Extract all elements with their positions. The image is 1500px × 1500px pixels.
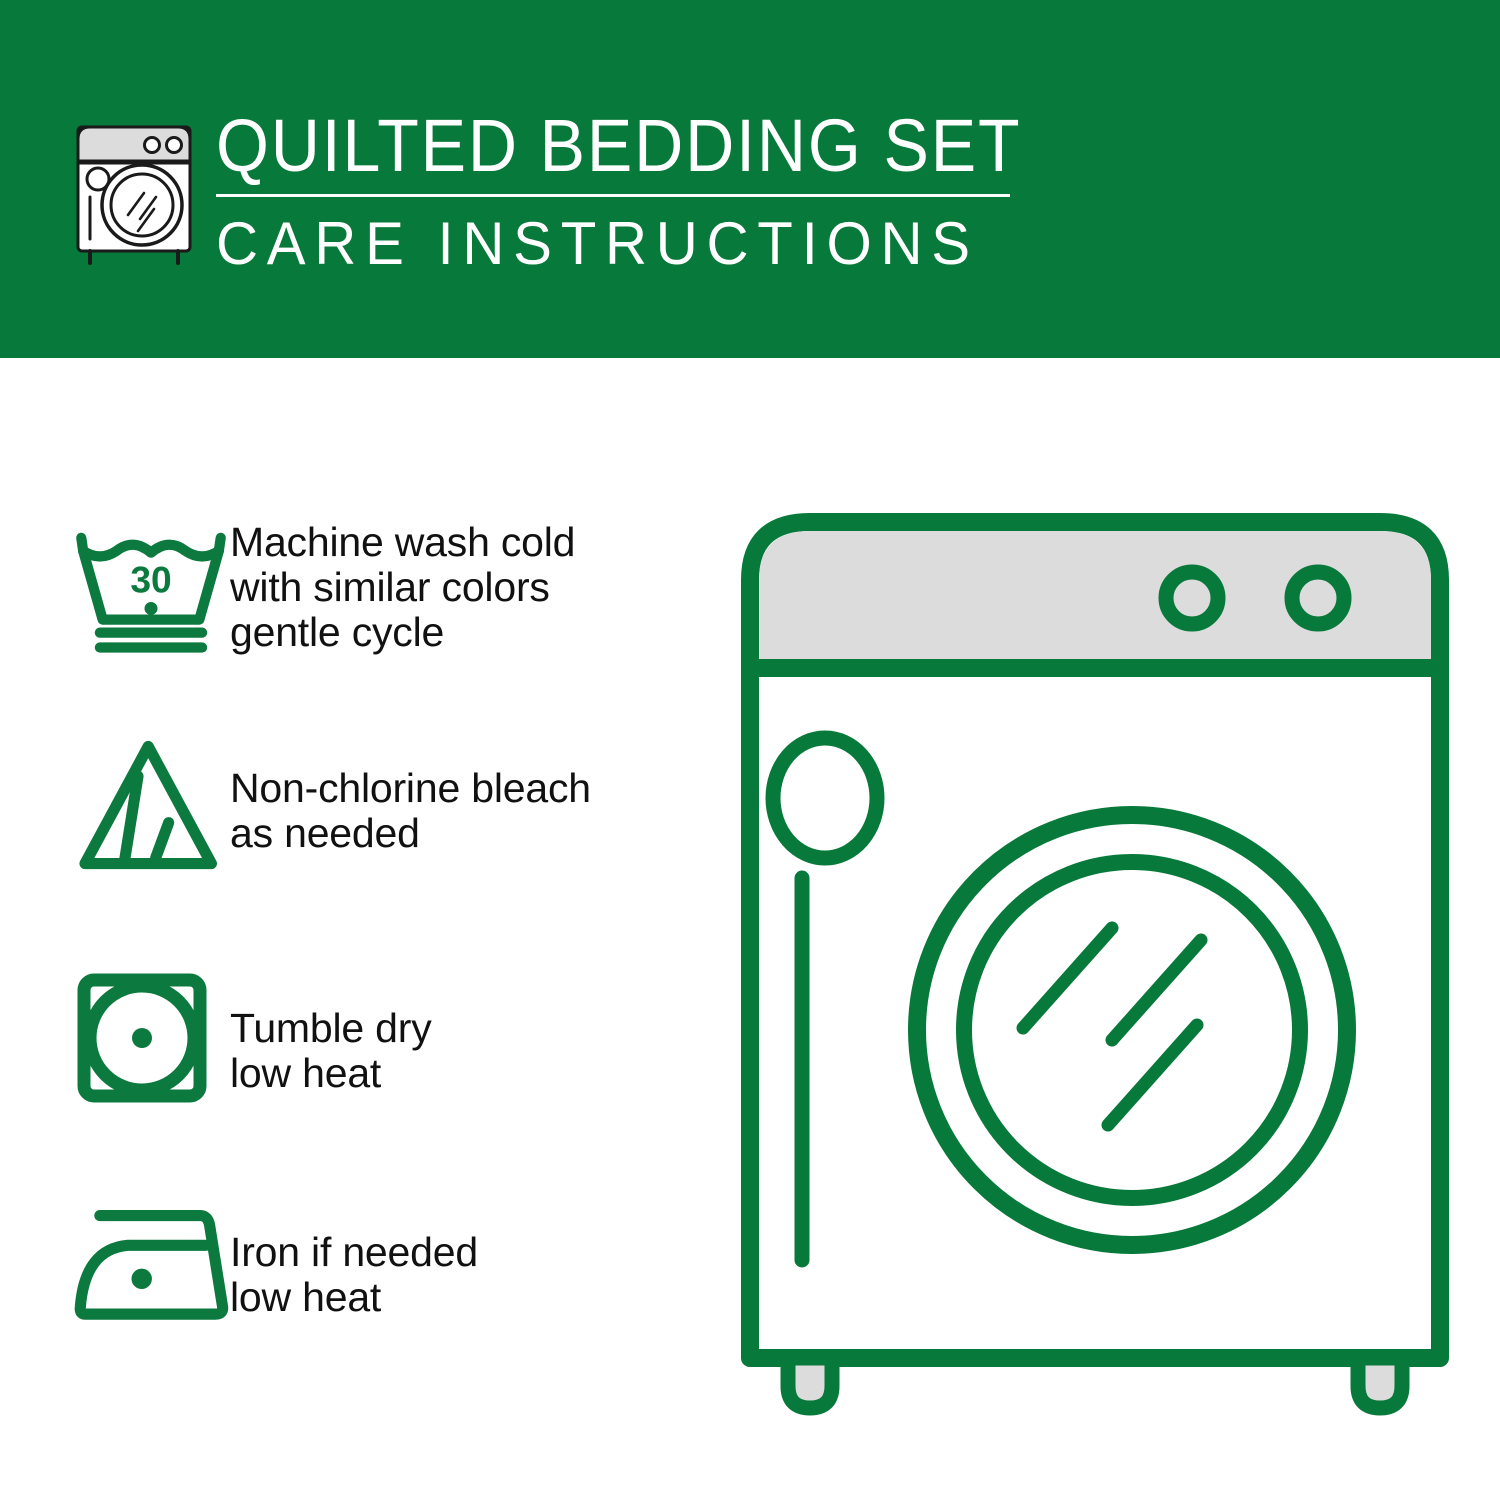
care-text-line: low heat [230, 1275, 478, 1320]
page-subtitle: CARE INSTRUCTIONS [216, 211, 992, 277]
care-row-wash: 30 Machine wash cold with similar colors… [0, 518, 730, 658]
care-row-iron: Iron if needed low heat [0, 1198, 730, 1328]
leg-left [788, 1358, 832, 1408]
page-title: QUILTED BEDDING SET [216, 106, 952, 186]
care-instruction-list: 30 Machine wash cold with similar colors… [0, 358, 730, 1500]
care-text-tumble-dry: Tumble dry low heat [230, 968, 432, 1096]
front-load-washing-machine-illustration [740, 500, 1450, 1420]
leg-right [1358, 1358, 1402, 1408]
header-text-block: QUILTED BEDDING SET CARE INSTRUCTIONS [216, 106, 1016, 277]
knob-right [1292, 572, 1344, 624]
title-divider [216, 194, 1010, 197]
care-text-line: Tumble dry [230, 1006, 432, 1051]
non-chlorine-bleach-triangle-icon [0, 730, 230, 880]
machine-wash-tub-icon: 30 [0, 518, 230, 658]
care-text-line: gentle cycle [230, 610, 575, 655]
care-row-bleach: Non-chlorine bleach as needed [0, 730, 730, 880]
care-text-line: with similar colors [230, 565, 575, 610]
iron-low-heat-icon [0, 1198, 230, 1328]
wash-temperature-label: 30 [130, 559, 171, 601]
care-row-tumble-dry: Tumble dry low heat [0, 968, 730, 1108]
tumble-dry-square-icon [0, 968, 230, 1108]
care-text-wash: Machine wash cold with similar colors ge… [230, 518, 575, 655]
care-text-line: as needed [230, 811, 591, 856]
knob-left [1166, 572, 1218, 624]
care-text-line: low heat [230, 1051, 432, 1096]
care-text-line: Iron if needed [230, 1230, 478, 1275]
care-text-line: Machine wash cold [230, 520, 575, 565]
care-text-bleach: Non-chlorine bleach as needed [230, 730, 591, 856]
washing-machine-icon [64, 105, 204, 265]
header-band: QUILTED BEDDING SET CARE INSTRUCTIONS [0, 0, 1500, 358]
care-text-iron: Iron if needed low heat [230, 1198, 478, 1320]
care-text-line: Non-chlorine bleach [230, 766, 591, 811]
